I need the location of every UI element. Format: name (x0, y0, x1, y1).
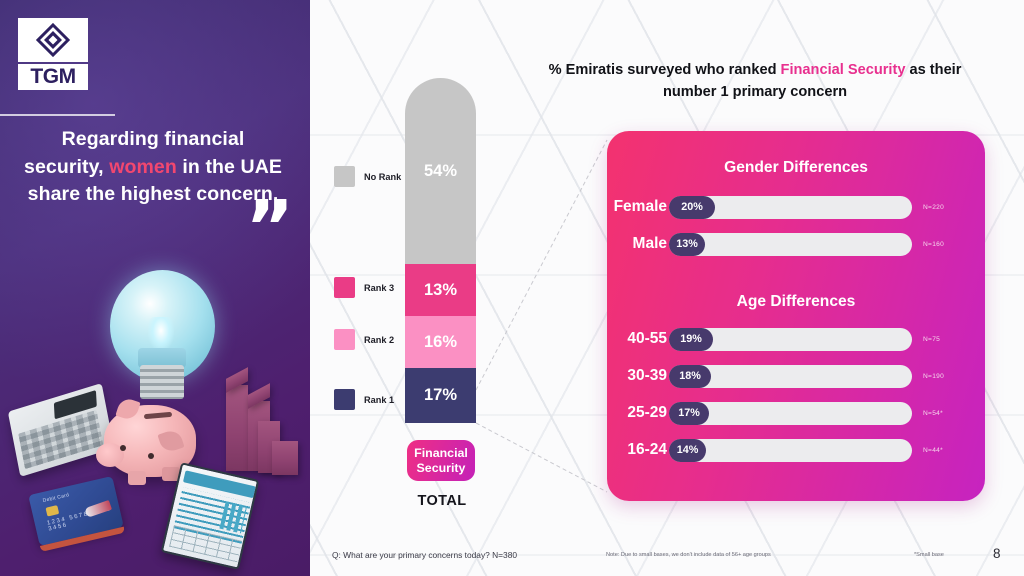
gender-track-female: 20% (669, 196, 912, 219)
gender-label-female: Female (517, 198, 667, 216)
age-base-30-39: N=190 (923, 373, 944, 380)
calculator-keys (18, 410, 103, 470)
age-row-30-39[interactable]: 30-39 18% N=190 (607, 364, 985, 388)
age-track-16-24: 14% (669, 439, 912, 462)
piggy-eye-right (148, 453, 154, 459)
card-chip-icon (45, 505, 59, 516)
gender-track-male: 13% (669, 233, 912, 256)
page-title: % Emiratis surveyed who ranked Financial… (520, 60, 990, 104)
age-base-16-24: N=44* (923, 447, 943, 454)
gender-fill-male: 13% (669, 233, 705, 256)
badge-line-2: Security (409, 461, 473, 476)
stacked-bar-chart: 54% 13% 16% 17% (405, 78, 476, 423)
title-highlight: Financial Security (781, 62, 906, 78)
gender-label-male: Male (517, 235, 667, 253)
age-row-16-24[interactable]: 16-24 14% N=44* (607, 438, 985, 462)
badge-line-1: Financial (409, 446, 473, 461)
title-part1: % Emiratis surveyed who ranked (549, 62, 781, 78)
gender-fill-female: 20% (669, 196, 715, 219)
legend-swatch-rank-3 (334, 277, 355, 298)
piggy-ear-right (157, 428, 184, 454)
age-track-25-29: 17% (669, 402, 912, 425)
age-base-25-29: N=54* (923, 410, 943, 417)
financial-security-badge[interactable]: Financial Security (407, 440, 475, 481)
bar-value-rank-1: 17% (424, 386, 457, 405)
legend-item-rank-2[interactable]: Rank 2 (334, 329, 394, 350)
bar-segment-no-rank[interactable]: 54% (405, 78, 476, 264)
gender-base-female: N=220 (923, 204, 944, 211)
bar-segment-rank-3[interactable]: 13% (405, 264, 476, 316)
age-track-30-39: 18% (669, 365, 912, 388)
left-hero-panel: TGM Regarding financial security, women … (0, 0, 310, 576)
legend-label-rank-3: Rank 3 (364, 283, 394, 293)
piggy-ear-left (115, 396, 140, 421)
lightbulb-base (140, 365, 184, 399)
lightbulb-filament-icon (148, 317, 174, 351)
footer-note: Note: Due to small bases, we don't inclu… (606, 552, 771, 558)
piggy-coin-slot (144, 412, 172, 419)
page-number: 8 (993, 546, 1001, 561)
legend-swatch-rank-1 (334, 389, 355, 410)
legend-swatch-no-rank (334, 166, 355, 187)
age-row-40-55[interactable]: 40-55 19% N=75 (607, 327, 985, 351)
age-fill-30-39: 18% (669, 365, 711, 388)
legend-item-rank-3[interactable]: Rank 3 (334, 277, 394, 298)
calculator-icon (8, 383, 114, 477)
total-label: TOTAL (402, 493, 482, 509)
headline-highlight: women (109, 156, 177, 178)
age-label-40-55: 40-55 (517, 330, 667, 348)
legend-label-no-rank: No Rank (364, 172, 401, 182)
legend-swatch-rank-2 (334, 329, 355, 350)
age-base-40-55: N=75 (923, 336, 940, 343)
legend-label-rank-1: Rank 1 (364, 395, 394, 405)
bar-value-rank-2: 16% (424, 333, 457, 352)
footer-small-base: *Small base (914, 552, 944, 558)
quote-mark-icon: ” (245, 208, 292, 249)
gender-base-male: N=160 (923, 241, 944, 248)
bar-segment-rank-2[interactable]: 16% (405, 316, 476, 368)
piggy-leg-front (128, 471, 146, 485)
age-fill-40-55: 19% (669, 328, 713, 351)
bar-segment-rank-1[interactable]: 17% (405, 368, 476, 423)
bar-value-rank-3: 13% (424, 281, 457, 300)
legend-item-rank-1[interactable]: Rank 1 (334, 389, 394, 410)
legend-label-rank-2: Rank 2 (364, 335, 394, 345)
age-label-30-39: 30-39 (517, 367, 667, 385)
logo-wordmark: TGM (18, 64, 88, 90)
credit-card-icon: Debit Card 1234 5678 9012 3456 (28, 476, 123, 546)
breakdown-panel: Gender Differences Female 20% N=220 Male… (607, 131, 985, 501)
chart-legend: No Rank Rank 3 Rank 2 Rank 1 (320, 78, 410, 423)
age-track-40-55: 19% (669, 328, 912, 351)
gender-section-title: Gender Differences (607, 159, 985, 177)
age-fill-25-29: 17% (669, 402, 709, 425)
gender-row-female[interactable]: Female 20% N=220 (607, 195, 985, 219)
card-title: Debit Card (42, 492, 70, 504)
finance-illustration: Debit Card 1234 5678 9012 3456 (0, 255, 310, 576)
hero-divider (0, 114, 115, 116)
piggy-eye-left (120, 445, 126, 451)
bar-value-no-rank: 54% (424, 162, 457, 181)
age-label-16-24: 16-24 (517, 441, 667, 459)
diamond-logo-icon (18, 18, 88, 62)
age-row-25-29[interactable]: 25-29 17% N=54* (607, 401, 985, 425)
age-fill-16-24: 14% (669, 439, 706, 462)
footer-question: Q: What are your primary concerns today?… (332, 550, 517, 560)
tgm-logo: TGM (18, 18, 88, 90)
legend-item-no-rank[interactable]: No Rank (334, 166, 401, 187)
age-label-25-29: 25-29 (517, 404, 667, 422)
gender-row-male[interactable]: Male 13% N=160 (607, 232, 985, 256)
age-section-title: Age Differences (607, 293, 985, 311)
content-area: % Emiratis surveyed who ranked Financial… (310, 0, 1024, 576)
